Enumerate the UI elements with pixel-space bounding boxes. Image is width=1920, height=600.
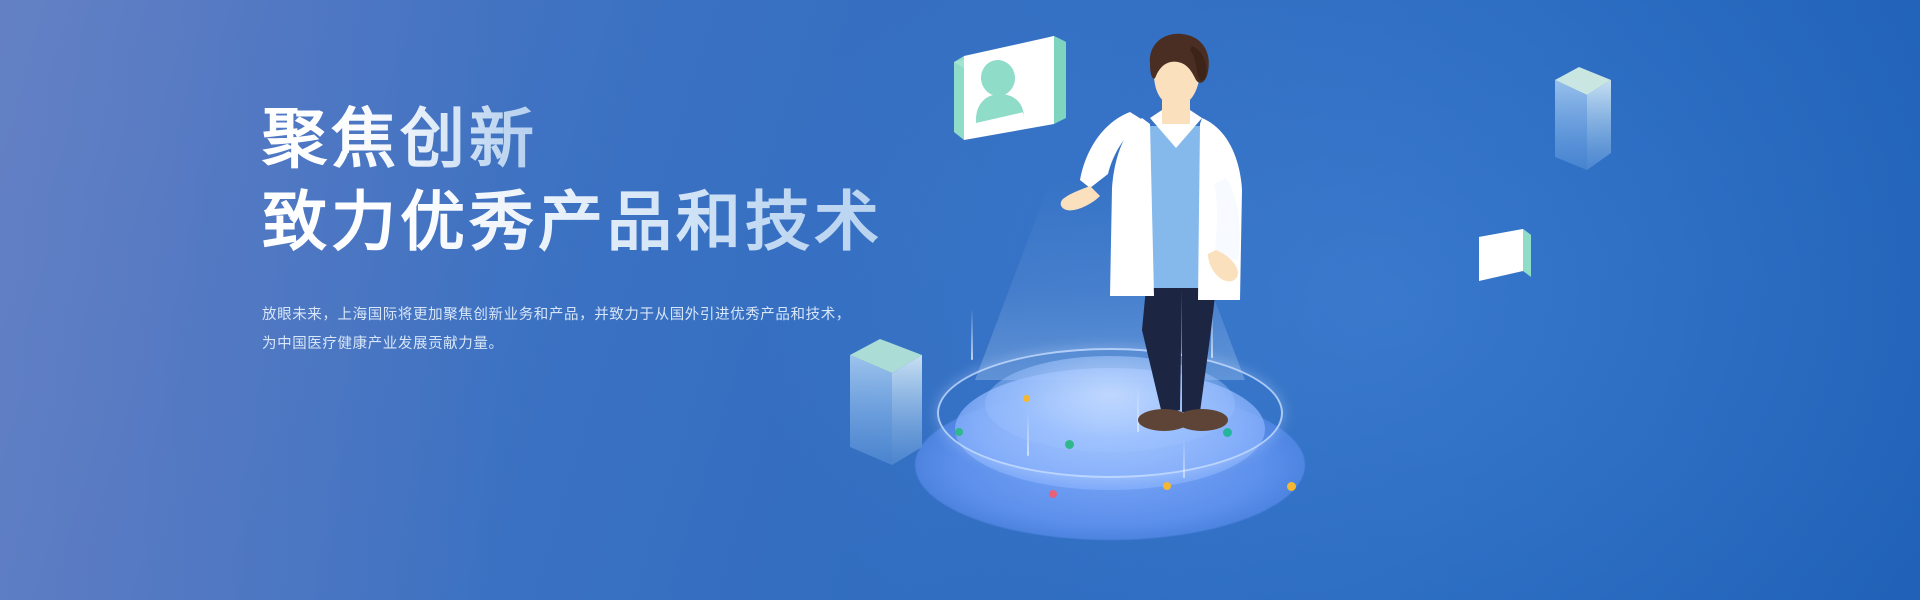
leg-left [1142, 288, 1182, 414]
headline-line-1: 聚焦创新 [262, 105, 882, 174]
particle-dot [1023, 395, 1030, 402]
hero-illustration [820, 0, 1920, 600]
headline-line-2-text: 致力优秀产品和技术 [262, 188, 883, 257]
shirt [1146, 126, 1206, 288]
light-streak [1027, 412, 1029, 456]
hero-subtitle: 放眼未来，上海国际将更加聚焦创新业务和产品，并致力于从国外引进优秀产品和技术，为… [262, 301, 852, 359]
particle-dot [955, 428, 963, 436]
particle-dot [1287, 482, 1296, 491]
prism-tall-icon [1555, 65, 1611, 170]
light-streak [971, 308, 973, 360]
doctor-figure [1050, 38, 1290, 458]
particle-dot [1049, 490, 1057, 498]
particle-dot [1163, 482, 1171, 490]
card-flat-icon [1475, 225, 1535, 287]
shoe-right [1176, 409, 1228, 431]
hero-text-block: 聚焦创新 致力优秀产品和技术 放眼未来，上海国际将更加聚焦创新业务和产品，并致力… [262, 105, 882, 359]
leg-right [1182, 288, 1216, 412]
hero-banner: 聚焦创新 致力优秀产品和技术 放眼未来，上海国际将更加聚焦创新业务和产品，并致力… [0, 0, 1920, 600]
headline-line-2: 致力优秀产品和技术 [262, 188, 882, 257]
headline-line-1-text: 聚焦创新 [262, 105, 538, 174]
hand-left-pointing [1061, 186, 1100, 210]
